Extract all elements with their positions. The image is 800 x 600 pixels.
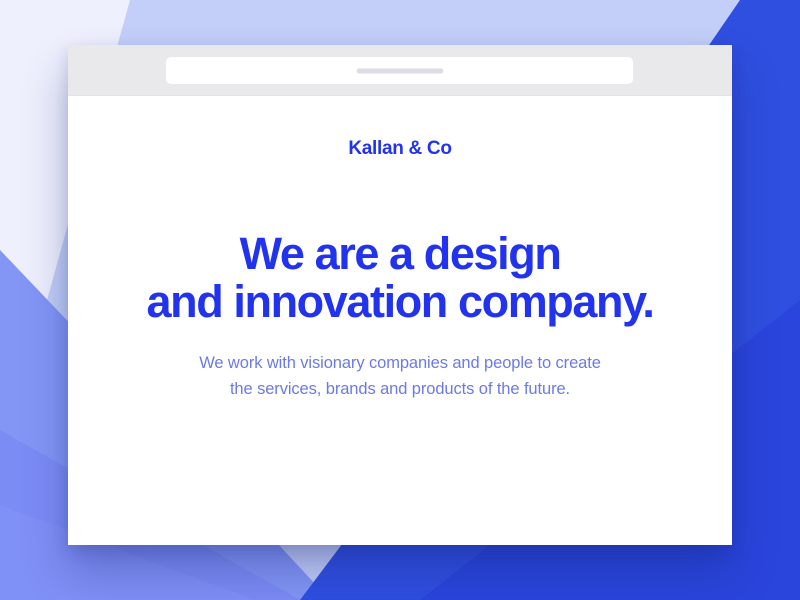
website-page-content: Kallan & Co We are a design and innovati… — [68, 96, 732, 545]
screenshot-stage: Kallan & Co We are a design and innovati… — [0, 0, 800, 600]
url-placeholder-text — [357, 68, 443, 73]
site-logo[interactable]: Kallan & Co — [68, 96, 732, 158]
url-bar[interactable] — [166, 57, 633, 84]
browser-window: Kallan & Co We are a design and innovati… — [68, 45, 732, 545]
hero-subtitle-line-1: We work with visionary companies and peo… — [68, 351, 732, 377]
browser-chrome-bar — [68, 45, 732, 96]
hero-subtitle-line-2: the services, brands and products of the… — [68, 377, 732, 403]
hero-subtitle: We work with visionary companies and peo… — [68, 325, 732, 402]
hero-headline: We are a design and innovation company. — [68, 158, 732, 325]
hero-headline-line-1: We are a design — [68, 230, 732, 278]
hero-headline-line-2: and innovation company. — [68, 278, 732, 326]
